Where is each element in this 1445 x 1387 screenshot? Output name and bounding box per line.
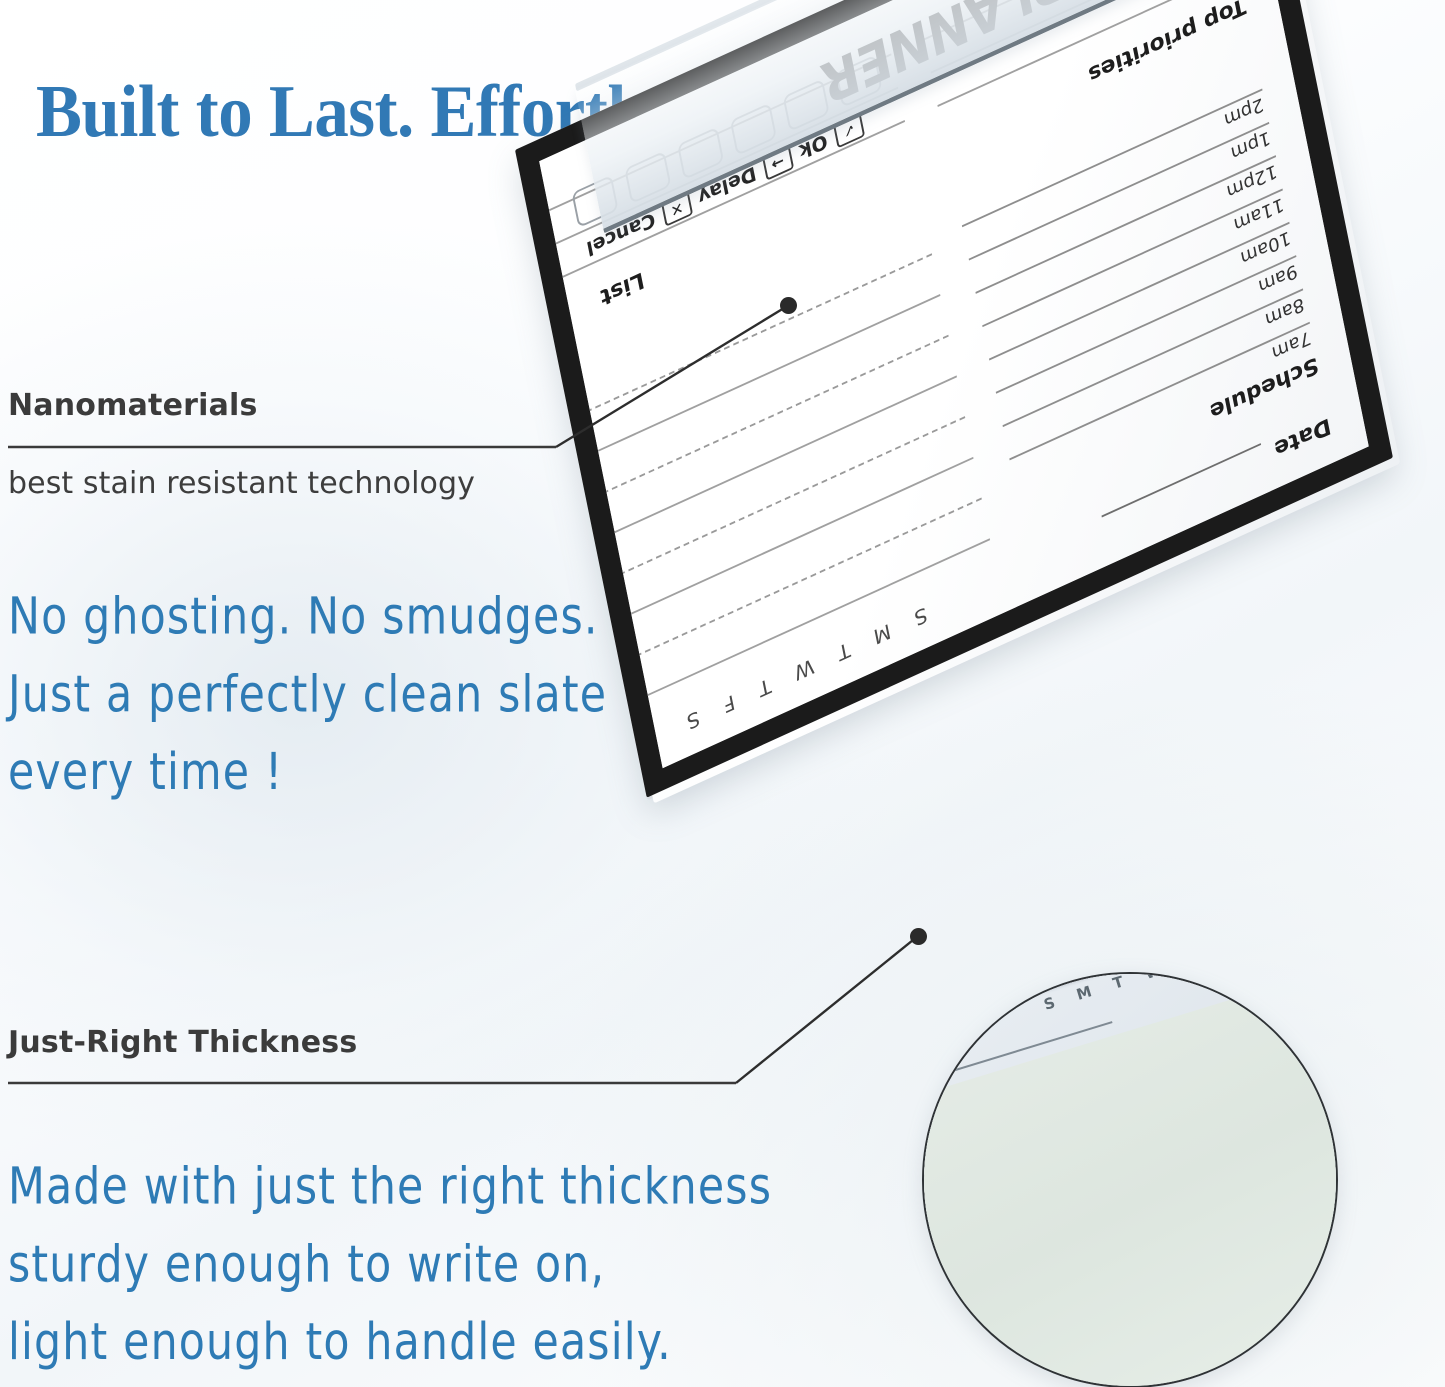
planner-date-label: Date bbox=[1272, 412, 1333, 461]
planner-rule bbox=[627, 457, 973, 616]
planner-rule-dashed bbox=[619, 416, 965, 575]
planner-hour-rule bbox=[1003, 288, 1304, 427]
planner-hour-rule bbox=[975, 155, 1276, 294]
callout2-anchor-dot bbox=[910, 928, 927, 945]
planner-rule-dashed bbox=[636, 498, 982, 657]
planner-list-label: List bbox=[598, 266, 646, 310]
planner-hour-rule bbox=[989, 222, 1290, 361]
callout-title-nanomaterials: Nanomaterials bbox=[8, 388, 258, 423]
planner-hour-rule bbox=[962, 89, 1263, 228]
planner-hour-rule bbox=[982, 188, 1283, 327]
edge-thickness-closeup-inset: S M T W T F S bbox=[922, 972, 1338, 1387]
planner-rule-dashed bbox=[603, 335, 949, 494]
callout-title-thickness: Just-Right Thickness bbox=[8, 1025, 357, 1060]
daily-planner-board: Date S M T W T F S Schedule 7am 8am 9am … bbox=[515, 150, 1445, 1010]
callout-subtitle-nanomaterials: best stain resistant technology bbox=[8, 466, 475, 501]
planner-date-writeline bbox=[1101, 443, 1261, 517]
planner-top-priorities-label: Top priorities bbox=[1086, 0, 1247, 88]
product-feature-graphic: Built to Last. Effortless to Dry Erase. … bbox=[0, 0, 1445, 1387]
planner-rule bbox=[611, 376, 957, 535]
handwritten-text-thickness: Made with just the right thickness sturd… bbox=[8, 1148, 772, 1381]
planner-hour-rule bbox=[996, 255, 1297, 394]
callout1-anchor-dot bbox=[780, 297, 797, 314]
planner-hour-rule bbox=[969, 122, 1270, 261]
planner-rule bbox=[594, 294, 940, 453]
handwritten-text-ghosting: No ghosting. No smudges. Just a perfectl… bbox=[8, 578, 607, 811]
